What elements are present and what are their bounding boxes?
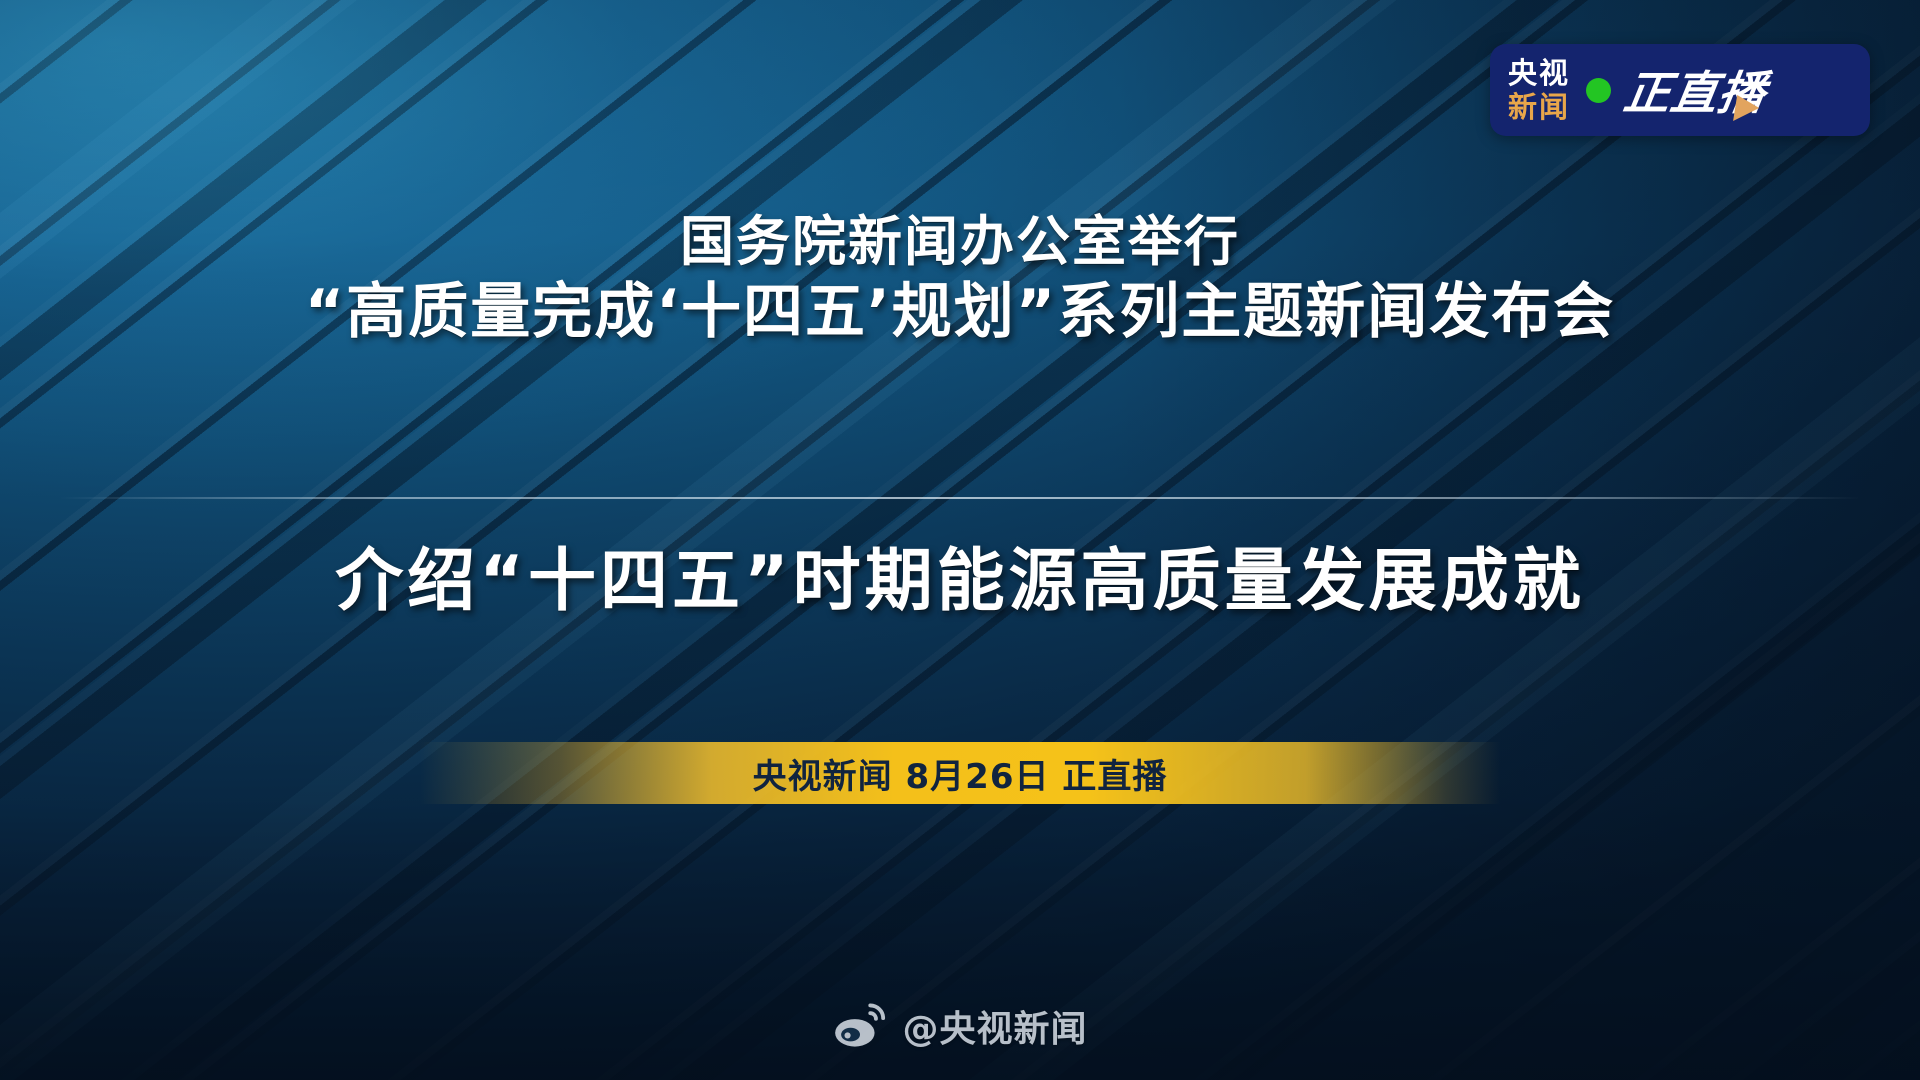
background-vignette [0, 0, 1920, 1080]
headline-line-3: 介绍“十四五”时期能源高质量发展成就 [0, 545, 1920, 620]
weibo-handle-text: @央视新闻 [902, 1000, 1087, 1052]
live-now-label: 正直播 [1620, 57, 1771, 123]
headline-line-2: “高质量完成‘十四五’规划”系列主题新闻发布会 [0, 274, 1920, 351]
play-triangle-icon [1733, 95, 1761, 121]
weibo-icon [832, 1002, 888, 1050]
schedule-banner: 央视新闻 8月26日 正直播 [420, 742, 1500, 804]
broadcast-title-card: 央视 新闻 正直播 国务院新闻办公室举行 “高质量完成‘十四五’规划”系列主题新… [0, 0, 1920, 1080]
weibo-watermark: @央视新闻 [0, 1000, 1920, 1052]
headline-divider [60, 497, 1860, 499]
background-stripes-highlight [0, 0, 1920, 1080]
live-status-dot-icon [1586, 78, 1611, 103]
cctv-wordmark-line1: 央视 [1508, 59, 1570, 88]
cctv-live-badge: 央视 新闻 正直播 [1490, 44, 1870, 136]
schedule-banner-text: 央视新闻 8月26日 正直播 [753, 749, 1168, 798]
background-glow [0, 0, 1920, 1080]
subheadline-block: 介绍“十四五”时期能源高质量发展成就 [0, 545, 1920, 620]
headline-block: 国务院新闻办公室举行 “高质量完成‘十四五’规划”系列主题新闻发布会 [0, 210, 1920, 351]
headline-line-1: 国务院新闻办公室举行 [0, 210, 1920, 274]
background-stripes-fine [0, 0, 1920, 1080]
cctv-wordmark-line2: 新闻 [1508, 93, 1570, 122]
cctv-news-wordmark: 央视 新闻 [1508, 59, 1570, 122]
background-stripes-broad [0, 0, 1920, 1080]
